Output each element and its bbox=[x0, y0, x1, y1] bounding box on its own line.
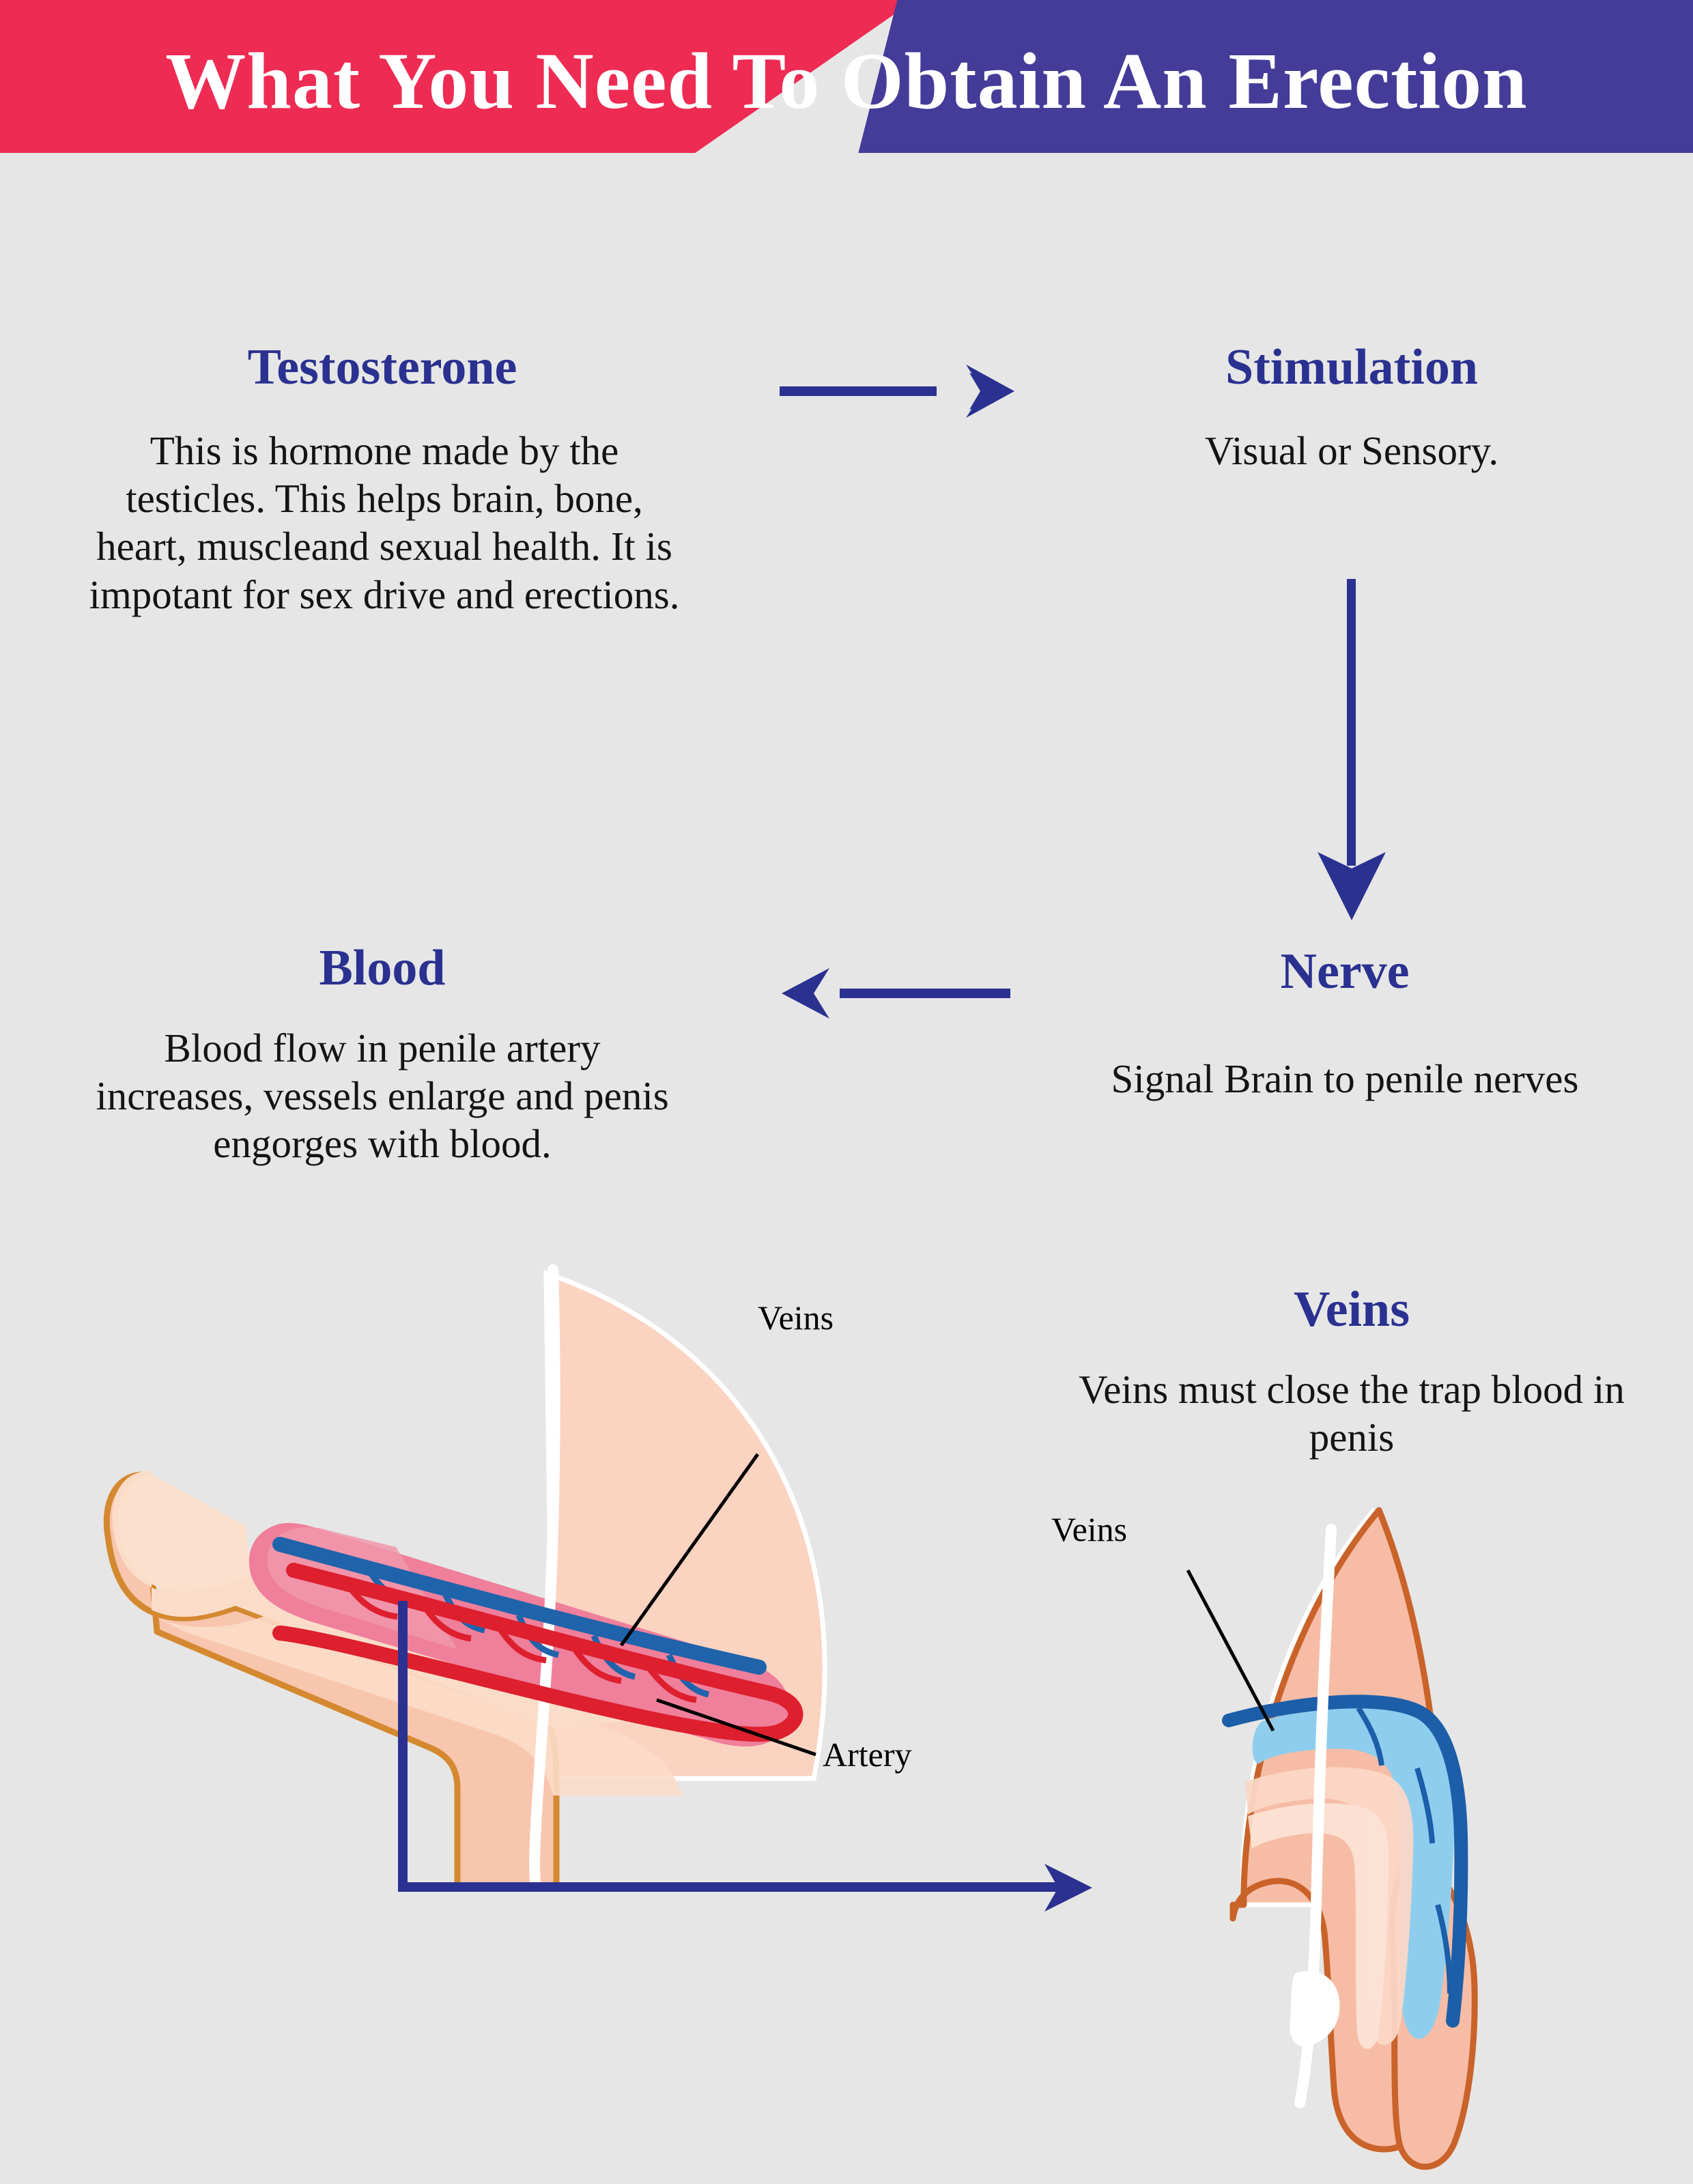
node-body-testosterone: This is hormone made by the testicles. T… bbox=[87, 427, 681, 619]
node-body-stimulation: Visual or Sensory. bbox=[1092, 427, 1611, 474]
label-artery-flaccid: Artery bbox=[823, 1738, 912, 1772]
header-banner: What You Need To Obtain An Erection bbox=[0, 0, 1693, 153]
node-body-nerve: Signal Brain to penile nerves bbox=[1010, 1055, 1679, 1103]
erect-penis-figure bbox=[1099, 1495, 1673, 2178]
page-title: What You Need To Obtain An Erection bbox=[0, 0, 1693, 153]
label-veins-erect: Veins bbox=[1051, 1512, 1127, 1546]
arrow-testosterone-to-stimulation bbox=[780, 365, 1014, 418]
node-body-veins: Veins must close the trap blood in penis bbox=[1051, 1365, 1652, 1461]
node-title-nerve: Nerve bbox=[1099, 946, 1591, 999]
leader-line-veins-erect bbox=[1188, 1570, 1273, 1731]
arrow-stimulation-to-nerve bbox=[1318, 579, 1386, 920]
node-body-blood: Blood flow in penile artery increases, v… bbox=[82, 1024, 683, 1168]
node-title-testosterone: Testosterone bbox=[123, 341, 642, 395]
label-veins-flaccid: Veins bbox=[758, 1301, 834, 1335]
node-title-veins: Veins bbox=[1161, 1284, 1543, 1337]
node-title-stimulation: Stimulation bbox=[1092, 341, 1611, 395]
node-title-blood: Blood bbox=[171, 942, 594, 995]
arrow-nerve-to-blood bbox=[782, 968, 1010, 1019]
flaccid-penis-figure bbox=[75, 1249, 867, 1891]
infographic-canvas: What You Need To Obtain An Erection Test… bbox=[0, 0, 1693, 2184]
glans-shading bbox=[118, 1475, 251, 1591]
